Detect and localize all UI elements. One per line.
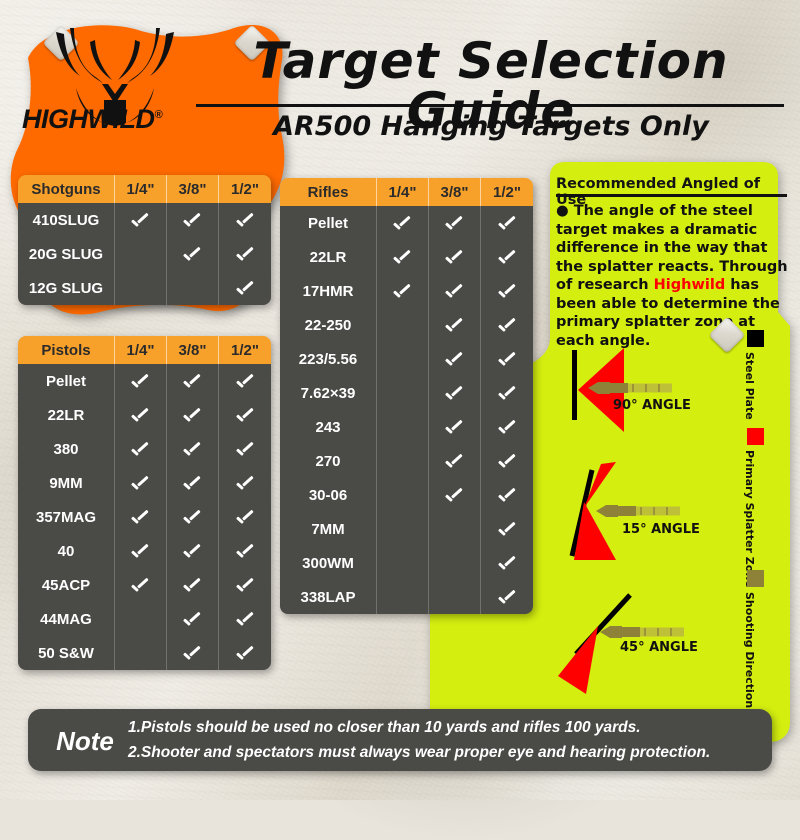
- check-icon: [237, 546, 254, 556]
- table-row: 7.62×39: [280, 376, 533, 410]
- cell-empty: [115, 602, 167, 636]
- check-icon: [394, 218, 411, 228]
- table-row: 17HMR: [280, 274, 533, 308]
- table-shotguns: Shotguns1/4"3/8"1/2"410SLUG20G SLUG12G S…: [18, 175, 271, 305]
- legend-label-shooting-direction: Shooting Direction: [743, 592, 756, 708]
- cell-empty: [377, 376, 429, 410]
- cell-checked: [167, 364, 219, 398]
- check-icon: [184, 478, 201, 488]
- cell-checked: [219, 237, 271, 271]
- column-header-category: Shotguns: [18, 175, 115, 203]
- steel-plate-90: [572, 350, 577, 420]
- title-divider: [196, 104, 784, 107]
- check-icon: [499, 320, 516, 330]
- check-icon: [237, 614, 254, 624]
- check-icon: [132, 215, 149, 225]
- check-icon: [184, 444, 201, 454]
- row-label: 44MAG: [18, 602, 115, 636]
- check-icon: [499, 558, 516, 568]
- cell-checked: [481, 206, 533, 240]
- legend-swatch-splatter-zone: [747, 428, 764, 445]
- angle-label-45: 45° ANGLE: [620, 640, 698, 655]
- cell-empty: [377, 308, 429, 342]
- table-row: 50 S&W: [18, 636, 271, 670]
- column-header-thickness: 1/2": [219, 336, 271, 364]
- cell-checked: [115, 466, 167, 500]
- table-row: 22-250: [280, 308, 533, 342]
- table-rifles: Rifles1/4"3/8"1/2"Pellet22LR17HMR22-2502…: [280, 178, 533, 614]
- bullet-15: [596, 504, 680, 518]
- table-row: 380: [18, 432, 271, 466]
- check-icon: [499, 456, 516, 466]
- row-label: 300WM: [280, 546, 377, 580]
- cell-checked: [115, 500, 167, 534]
- cell-checked: [167, 203, 219, 237]
- bullet-45: [600, 625, 684, 639]
- cell-checked: [115, 534, 167, 568]
- table-row: 40: [18, 534, 271, 568]
- row-label: 7MM: [280, 512, 377, 546]
- cell-checked: [481, 308, 533, 342]
- cell-checked: [167, 636, 219, 670]
- row-label: 270: [280, 444, 377, 478]
- check-icon: [237, 283, 254, 293]
- bullet-90: [588, 381, 672, 395]
- angle-panel-body: ● The angle of the steel target makes a …: [556, 202, 791, 350]
- cell-checked: [481, 410, 533, 444]
- table-row: 338LAP: [280, 580, 533, 614]
- cell-checked: [115, 203, 167, 237]
- table-pistols: Pistols1/4"3/8"1/2"Pellet22LR3809MM357MA…: [18, 336, 271, 670]
- cell-checked: [429, 376, 481, 410]
- note-line-1: 1.Pistols should be used no closer than …: [128, 719, 641, 737]
- table-header-row: Shotguns1/4"3/8"1/2": [18, 175, 271, 203]
- cell-checked: [219, 203, 271, 237]
- legend-swatch-shooting-direction: [747, 570, 764, 587]
- cell-empty: [429, 580, 481, 614]
- cell-checked: [219, 568, 271, 602]
- cell-empty: [377, 512, 429, 546]
- cell-checked: [219, 432, 271, 466]
- row-label: 30-06: [280, 478, 377, 512]
- row-label: 45ACP: [18, 568, 115, 602]
- check-icon: [132, 580, 149, 590]
- cell-checked: [429, 410, 481, 444]
- bullet-glyph: ●: [556, 203, 569, 219]
- row-label: 20G SLUG: [18, 237, 115, 271]
- table-row: 45ACP: [18, 568, 271, 602]
- row-label: 22LR: [280, 240, 377, 274]
- check-icon: [499, 524, 516, 534]
- check-icon: [446, 490, 463, 500]
- column-header-thickness: 3/8": [167, 336, 219, 364]
- cell-empty: [115, 237, 167, 271]
- cell-checked: [167, 602, 219, 636]
- cell-checked: [429, 342, 481, 376]
- check-icon: [446, 388, 463, 398]
- row-label: 7.62×39: [280, 376, 377, 410]
- row-label: 22LR: [18, 398, 115, 432]
- check-icon: [184, 215, 201, 225]
- check-icon: [184, 410, 201, 420]
- check-icon: [237, 512, 254, 522]
- cell-checked: [481, 546, 533, 580]
- column-header-thickness: 1/2": [219, 175, 271, 203]
- check-icon: [499, 388, 516, 398]
- check-icon: [446, 286, 463, 296]
- cell-checked: [429, 478, 481, 512]
- cell-checked: [219, 500, 271, 534]
- trademark-symbol: ®: [154, 109, 162, 121]
- check-icon: [446, 422, 463, 432]
- legend-swatch-steel-plate: [747, 330, 764, 347]
- cell-checked: [219, 466, 271, 500]
- cell-checked: [167, 398, 219, 432]
- legend-label-splatter-zone: Primary Splatter Zone: [743, 450, 756, 588]
- table-row: 12G SLUG: [18, 271, 271, 305]
- table-row: 270: [280, 444, 533, 478]
- row-label: 50 S&W: [18, 636, 115, 670]
- column-header-thickness: 1/2": [481, 178, 533, 206]
- cell-checked: [115, 398, 167, 432]
- angle-panel-divider: [556, 194, 787, 197]
- cell-checked: [429, 240, 481, 274]
- check-icon: [132, 410, 149, 420]
- check-icon: [237, 478, 254, 488]
- check-icon: [499, 218, 516, 228]
- check-icon: [184, 546, 201, 556]
- column-header-thickness: 3/8": [429, 178, 481, 206]
- table-row: 357MAG: [18, 500, 271, 534]
- cell-checked: [219, 271, 271, 305]
- cell-checked: [167, 466, 219, 500]
- check-icon: [237, 215, 254, 225]
- row-label: 380: [18, 432, 115, 466]
- check-icon: [394, 286, 411, 296]
- row-label: 12G SLUG: [18, 271, 115, 305]
- check-icon: [394, 252, 411, 262]
- cell-checked: [219, 636, 271, 670]
- cell-empty: [429, 512, 481, 546]
- cell-checked: [167, 432, 219, 466]
- check-icon: [184, 614, 201, 624]
- cell-empty: [377, 478, 429, 512]
- cell-empty: [377, 342, 429, 376]
- cell-checked: [481, 376, 533, 410]
- column-header-thickness: 1/4": [115, 175, 167, 203]
- table-row: 44MAG: [18, 602, 271, 636]
- check-icon: [499, 354, 516, 364]
- check-icon: [499, 286, 516, 296]
- column-header-category: Pistols: [18, 336, 115, 364]
- check-icon: [237, 376, 254, 386]
- table-row: 243: [280, 410, 533, 444]
- page-subtitle: AR500 Hanging Targets Only: [196, 110, 786, 144]
- table-body: 410SLUG20G SLUG12G SLUG: [18, 203, 271, 305]
- note-label: Note: [40, 726, 130, 757]
- check-icon: [499, 592, 516, 602]
- cell-checked: [219, 364, 271, 398]
- table-body: Pellet22LR17HMR22-250223/5.567.62×392432…: [280, 206, 533, 614]
- check-icon: [237, 648, 254, 658]
- cell-empty: [115, 636, 167, 670]
- check-icon: [132, 478, 149, 488]
- row-label: 357MAG: [18, 500, 115, 534]
- cell-checked: [167, 500, 219, 534]
- cell-empty: [377, 410, 429, 444]
- check-icon: [499, 490, 516, 500]
- check-icon: [499, 422, 516, 432]
- check-icon: [184, 648, 201, 658]
- cell-checked: [219, 398, 271, 432]
- check-icon: [446, 456, 463, 466]
- cell-empty: [377, 580, 429, 614]
- angle-label-90: 90° ANGLE: [613, 398, 691, 413]
- row-label: 410SLUG: [18, 203, 115, 237]
- check-icon: [237, 249, 254, 259]
- check-icon: [446, 252, 463, 262]
- cell-checked: [377, 240, 429, 274]
- table-row: 9MM: [18, 466, 271, 500]
- check-icon: [132, 512, 149, 522]
- check-icon: [184, 376, 201, 386]
- cell-checked: [481, 478, 533, 512]
- row-label: 17HMR: [280, 274, 377, 308]
- legend-label-steel-plate: Steel Plate: [743, 352, 756, 420]
- cell-checked: [115, 364, 167, 398]
- check-icon: [446, 218, 463, 228]
- angle-label-15: 15° ANGLE: [622, 522, 700, 537]
- table-row: 300WM: [280, 546, 533, 580]
- cell-checked: [167, 534, 219, 568]
- row-label: 243: [280, 410, 377, 444]
- cell-checked: [219, 534, 271, 568]
- cell-checked: [481, 444, 533, 478]
- table-header-row: Pistols1/4"3/8"1/2": [18, 336, 271, 364]
- check-icon: [184, 512, 201, 522]
- cell-empty: [429, 546, 481, 580]
- check-icon: [184, 580, 201, 590]
- check-icon: [237, 444, 254, 454]
- check-icon: [132, 376, 149, 386]
- table-row: Pellet: [18, 364, 271, 398]
- row-label: 223/5.56: [280, 342, 377, 376]
- row-label: Pellet: [18, 364, 115, 398]
- cell-checked: [167, 237, 219, 271]
- column-header-thickness: 1/4": [377, 178, 429, 206]
- cell-checked: [115, 432, 167, 466]
- row-label: 338LAP: [280, 580, 377, 614]
- table-row: 22LR: [18, 398, 271, 432]
- check-icon: [237, 580, 254, 590]
- check-icon: [237, 410, 254, 420]
- check-icon: [446, 354, 463, 364]
- cell-empty: [115, 271, 167, 305]
- cell-empty: [167, 271, 219, 305]
- check-icon: [499, 252, 516, 262]
- column-header-thickness: 3/8": [167, 175, 219, 203]
- cell-checked: [429, 274, 481, 308]
- table-row: 7MM: [280, 512, 533, 546]
- cell-checked: [481, 240, 533, 274]
- check-icon: [184, 249, 201, 259]
- table-row: Pellet: [280, 206, 533, 240]
- column-header-category: Rifles: [280, 178, 377, 206]
- row-label: 40: [18, 534, 115, 568]
- note-line-2: 2.Shooter and spectators must always wea…: [128, 744, 710, 762]
- cell-checked: [377, 206, 429, 240]
- table-row: 30-06: [280, 478, 533, 512]
- check-icon: [132, 546, 149, 556]
- row-label: 9MM: [18, 466, 115, 500]
- row-label: 22-250: [280, 308, 377, 342]
- cell-empty: [377, 546, 429, 580]
- cell-checked: [481, 512, 533, 546]
- check-icon: [446, 320, 463, 330]
- table-header-row: Rifles1/4"3/8"1/2": [280, 178, 533, 206]
- cell-checked: [115, 568, 167, 602]
- brand-wordmark: HIGHWILD®: [22, 104, 197, 135]
- cell-checked: [429, 308, 481, 342]
- table-row: 410SLUG: [18, 203, 271, 237]
- table-row: 223/5.56: [280, 342, 533, 376]
- column-header-thickness: 1/4": [115, 336, 167, 364]
- table-row: 20G SLUG: [18, 237, 271, 271]
- cell-empty: [377, 444, 429, 478]
- cell-checked: [219, 602, 271, 636]
- cell-checked: [481, 580, 533, 614]
- cell-checked: [429, 444, 481, 478]
- cell-checked: [429, 206, 481, 240]
- row-label: Pellet: [280, 206, 377, 240]
- table-row: 22LR: [280, 240, 533, 274]
- cell-checked: [377, 274, 429, 308]
- highwild-highlight: Highwild: [654, 277, 726, 293]
- check-icon: [132, 444, 149, 454]
- cell-checked: [167, 568, 219, 602]
- cell-checked: [481, 342, 533, 376]
- table-body: Pellet22LR3809MM357MAG4045ACP44MAG50 S&W: [18, 364, 271, 670]
- brand-name: HIGHWILD: [22, 104, 154, 134]
- cell-checked: [481, 274, 533, 308]
